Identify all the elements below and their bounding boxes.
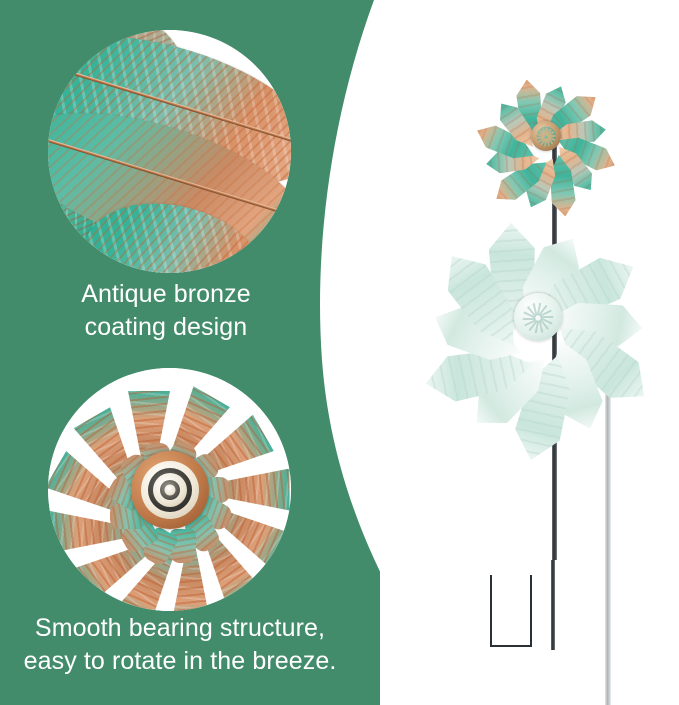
caption-bearing-line-2: easy to rotate in the breeze. (0, 645, 360, 678)
feature-circle-bearing (48, 368, 291, 611)
feature-circle-coating (48, 30, 291, 273)
feature-panel-stage: Antique bronze coating design Smooth bea… (0, 0, 679, 705)
caption-coating: Antique bronze coating design (0, 278, 332, 343)
product-photo (380, 0, 679, 705)
caption-bearing: Smooth bearing structure, easy to rotate… (0, 612, 360, 677)
caption-coating-line-1: Antique bronze (0, 278, 332, 311)
lower-flower (428, 172, 648, 462)
caption-coating-line-2: coating design (0, 311, 332, 344)
bearing-hub-photo (48, 368, 291, 611)
stake-leg (551, 560, 555, 650)
blade-closeup-photo (48, 30, 291, 273)
bearing-ring-core-cap (164, 484, 175, 495)
ground-stake (490, 575, 532, 647)
caption-bearing-line-1: Smooth bearing structure, (0, 612, 360, 645)
upper-flower (466, 58, 626, 214)
